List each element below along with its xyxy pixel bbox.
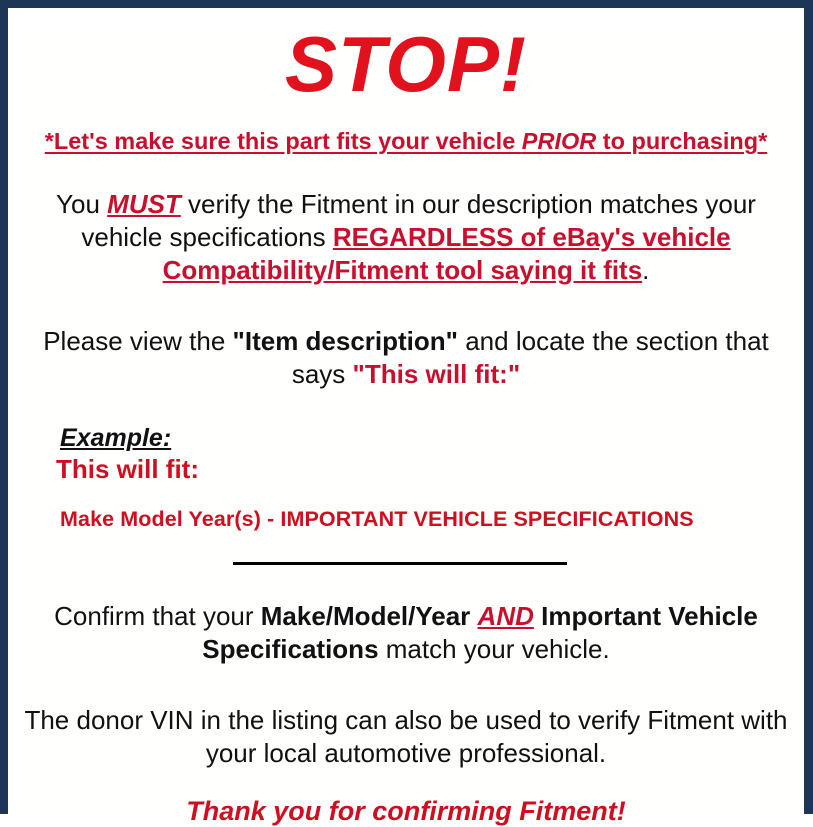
emphasis-and: AND (478, 601, 534, 631)
confirm-space1 (470, 601, 477, 631)
notice-content-area: STOP! *Let's make sure this part fits yo… (8, 22, 804, 815)
must-part3: . (642, 255, 649, 285)
tagline-suffix: to purchasing* (596, 128, 767, 154)
paragraph-must-verify: You MUST verify the Fitment in our descr… (18, 188, 794, 287)
confirm-part1: Confirm that your (54, 601, 261, 631)
example-label-row: Example: (60, 425, 794, 452)
example-this-will-fit-heading: This will fit: (56, 454, 794, 484)
closing-thank-you: Thank you for confirming Fitment! (18, 795, 794, 827)
emphasis-make-model-year: Make/Model/Year (261, 601, 471, 631)
tagline-emphasis-prior: PRIOR (522, 128, 596, 154)
example-block: Example: This will fit: Make Model Year(… (18, 425, 794, 532)
tagline: *Let's make sure this part fits your veh… (18, 128, 794, 154)
paragraph-item-description: Please view the "Item description" and l… (18, 325, 794, 391)
emphasis-item-description: "Item description" (233, 326, 458, 356)
emphasis-must: MUST (107, 189, 181, 219)
must-part1: You (56, 189, 107, 219)
confirm-part2: match your vehicle. (379, 634, 610, 664)
emphasis-this-will-fit: "This will fit:" (353, 359, 521, 389)
divider-wrapper (18, 558, 794, 570)
paragraph-donor-vin: The donor VIN in the listing can also be… (18, 704, 794, 770)
example-spec-line: Make Model Year(s) - IMPORTANT VEHICLE S… (60, 506, 794, 532)
tagline-prefix: *Let's make sure this part fits your veh… (45, 128, 522, 154)
stop-heading: STOP! (18, 22, 794, 106)
view-part1: Please view the (43, 326, 232, 356)
fitment-notice-card: STOP! *Let's make sure this part fits yo… (0, 0, 813, 814)
example-label: Example: (60, 425, 171, 452)
horizontal-divider (233, 562, 567, 565)
paragraph-confirm: Confirm that your Make/Model/Year AND Im… (18, 600, 794, 666)
